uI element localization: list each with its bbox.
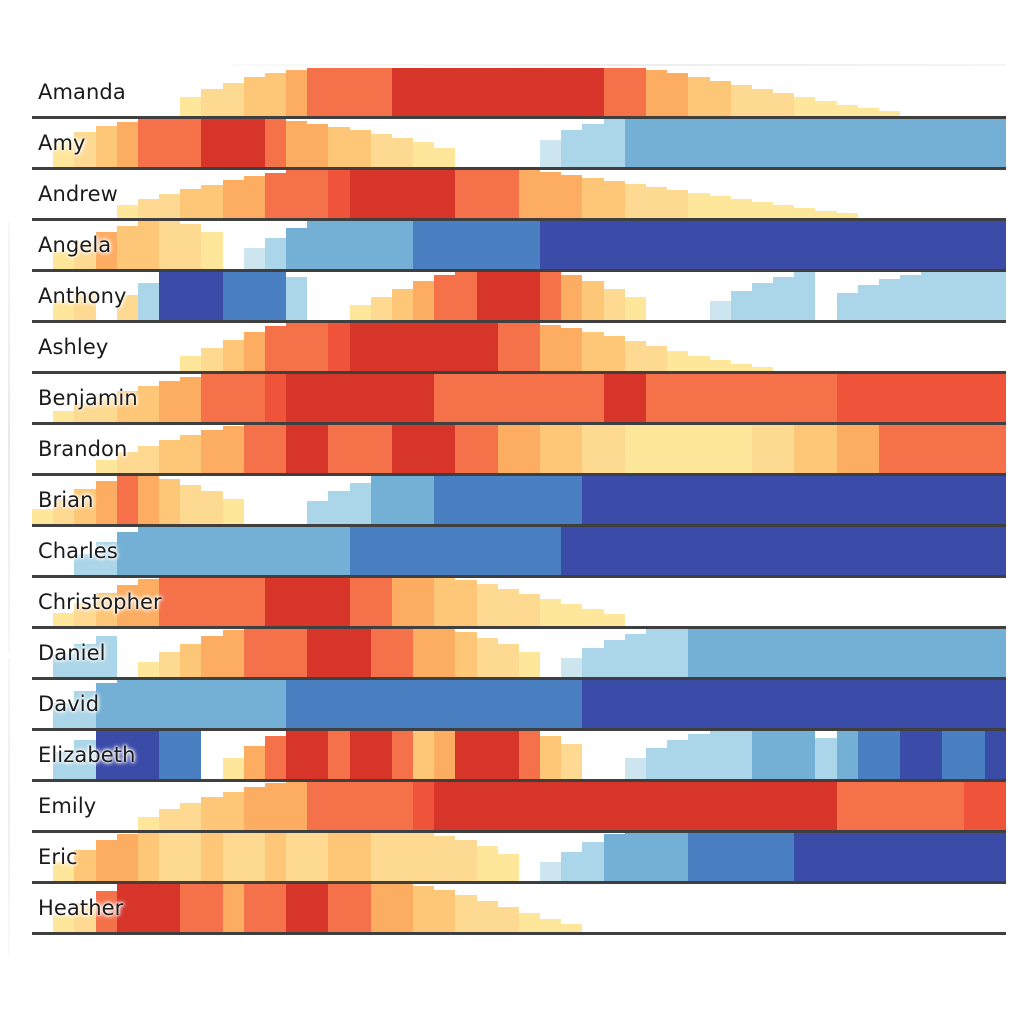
heatmap-cell[interactable] <box>561 272 582 323</box>
heatmap-cell[interactable] <box>286 170 307 221</box>
heatmap-cell[interactable] <box>604 680 625 731</box>
heatmap-cell[interactable] <box>117 221 138 272</box>
heatmap-cell[interactable] <box>201 884 222 935</box>
heatmap-cell[interactable] <box>773 374 794 425</box>
heatmap-row[interactable]: Ashley <box>32 323 1006 374</box>
heatmap-row[interactable]: Christopher <box>32 578 1006 629</box>
heatmap-cell[interactable] <box>180 374 201 425</box>
heatmap-cell[interactable] <box>985 731 1006 782</box>
heatmap-cell[interactable] <box>773 833 794 884</box>
heatmap-cell[interactable] <box>223 527 244 578</box>
heatmap-cell[interactable] <box>223 68 244 119</box>
heatmap-cell[interactable] <box>477 119 498 170</box>
heatmap-cell[interactable] <box>688 476 709 527</box>
heatmap-cell[interactable] <box>752 170 773 221</box>
heatmap-cell[interactable] <box>371 527 392 578</box>
heatmap-cell[interactable] <box>815 578 836 629</box>
heatmap-cell[interactable] <box>731 629 752 680</box>
heatmap-cell[interactable] <box>752 680 773 731</box>
heatmap-cell[interactable] <box>667 629 688 680</box>
heatmap-cell[interactable] <box>985 578 1006 629</box>
heatmap-cell[interactable] <box>858 323 879 374</box>
heatmap-cell[interactable] <box>307 374 328 425</box>
heatmap-cell[interactable] <box>815 527 836 578</box>
heatmap-cell[interactable] <box>265 680 286 731</box>
heatmap-cell[interactable] <box>498 170 519 221</box>
heatmap-cell[interactable] <box>244 476 265 527</box>
heatmap-cell[interactable] <box>964 374 985 425</box>
heatmap-cell[interactable] <box>752 221 773 272</box>
heatmap-cell[interactable] <box>413 425 434 476</box>
heatmap-cell[interactable] <box>561 119 582 170</box>
heatmap-cell[interactable] <box>540 731 561 782</box>
heatmap-cell[interactable] <box>498 272 519 323</box>
heatmap-cell[interactable] <box>561 527 582 578</box>
heatmap-cell[interactable] <box>117 323 138 374</box>
heatmap-cell[interactable] <box>519 374 540 425</box>
heatmap-cell[interactable] <box>731 170 752 221</box>
heatmap-cell[interactable] <box>223 578 244 629</box>
heatmap-cell[interactable] <box>964 119 985 170</box>
heatmap-cell[interactable] <box>752 323 773 374</box>
heatmap-cell[interactable] <box>392 680 413 731</box>
heatmap-cell[interactable] <box>900 578 921 629</box>
heatmap-cell[interactable] <box>921 578 942 629</box>
heatmap-cell[interactable] <box>286 374 307 425</box>
heatmap-cell[interactable] <box>921 476 942 527</box>
heatmap-cell[interactable] <box>625 374 646 425</box>
heatmap-cell[interactable] <box>794 884 815 935</box>
heatmap-cell[interactable] <box>540 272 561 323</box>
heatmap-cell[interactable] <box>455 170 476 221</box>
heatmap-cell[interactable] <box>858 527 879 578</box>
heatmap-cell[interactable] <box>138 629 159 680</box>
heatmap-cell[interactable] <box>858 68 879 119</box>
heatmap-cell[interactable] <box>879 119 900 170</box>
heatmap-cell[interactable] <box>646 221 667 272</box>
heatmap-cell[interactable] <box>561 323 582 374</box>
heatmap-cell[interactable] <box>942 884 963 935</box>
heatmap-cell[interactable] <box>455 680 476 731</box>
heatmap-cell[interactable] <box>646 527 667 578</box>
heatmap-cell[interactable] <box>434 323 455 374</box>
heatmap-cell[interactable] <box>646 578 667 629</box>
heatmap-cell[interactable] <box>138 884 159 935</box>
heatmap-cell[interactable] <box>688 374 709 425</box>
heatmap-cell[interactable] <box>604 68 625 119</box>
heatmap-cell[interactable] <box>519 272 540 323</box>
heatmap-cell[interactable] <box>286 119 307 170</box>
heatmap-cell[interactable] <box>646 884 667 935</box>
heatmap-cell[interactable] <box>519 680 540 731</box>
heatmap-cell[interactable] <box>350 119 371 170</box>
heatmap-cell[interactable] <box>625 731 646 782</box>
heatmap-cell[interactable] <box>455 578 476 629</box>
heatmap-cell[interactable] <box>604 119 625 170</box>
heatmap-cell[interactable] <box>159 629 180 680</box>
heatmap-cell[interactable] <box>815 272 836 323</box>
heatmap-cell[interactable] <box>815 884 836 935</box>
heatmap-cell[interactable] <box>773 629 794 680</box>
heatmap-cell[interactable] <box>794 527 815 578</box>
heatmap-cell[interactable] <box>455 68 476 119</box>
heatmap-cell[interactable] <box>371 272 392 323</box>
heatmap-cell[interactable] <box>477 476 498 527</box>
heatmap-cell[interactable] <box>498 68 519 119</box>
heatmap-cell[interactable] <box>350 170 371 221</box>
heatmap-cell[interactable] <box>879 782 900 833</box>
heatmap-cell[interactable] <box>604 272 625 323</box>
heatmap-cell[interactable] <box>519 68 540 119</box>
heatmap-cell[interactable] <box>879 833 900 884</box>
heatmap-cell[interactable] <box>964 170 985 221</box>
heatmap-cell[interactable] <box>837 527 858 578</box>
heatmap-cell[interactable] <box>307 782 328 833</box>
heatmap-cell[interactable] <box>900 629 921 680</box>
heatmap-cell[interactable] <box>710 527 731 578</box>
heatmap-cell[interactable] <box>837 323 858 374</box>
heatmap-cell[interactable] <box>942 680 963 731</box>
heatmap-cell[interactable] <box>159 578 180 629</box>
heatmap-cell[interactable] <box>498 221 519 272</box>
heatmap-cell[interactable] <box>837 680 858 731</box>
heatmap-cell[interactable] <box>667 527 688 578</box>
heatmap-cell[interactable] <box>710 680 731 731</box>
heatmap-cell[interactable] <box>561 476 582 527</box>
heatmap-cell[interactable] <box>371 731 392 782</box>
heatmap-cell[interactable] <box>455 119 476 170</box>
heatmap-cell[interactable] <box>328 119 349 170</box>
heatmap-cell[interactable] <box>498 782 519 833</box>
heatmap-cell[interactable] <box>794 119 815 170</box>
heatmap-cell[interactable] <box>180 527 201 578</box>
heatmap-cell[interactable] <box>307 578 328 629</box>
heatmap-cell[interactable] <box>413 833 434 884</box>
heatmap-cell[interactable] <box>879 221 900 272</box>
heatmap-cell[interactable] <box>731 578 752 629</box>
heatmap-cell[interactable] <box>413 374 434 425</box>
heatmap-cell[interactable] <box>286 731 307 782</box>
heatmap-row[interactable]: Andrew <box>32 170 1006 221</box>
heatmap-cell[interactable] <box>223 425 244 476</box>
heatmap-cell[interactable] <box>942 629 963 680</box>
heatmap-cell[interactable] <box>392 884 413 935</box>
heatmap-cell[interactable] <box>900 527 921 578</box>
heatmap-cell[interactable] <box>117 527 138 578</box>
heatmap-cell[interactable] <box>371 323 392 374</box>
heatmap-cell[interactable] <box>837 731 858 782</box>
heatmap-cell[interactable] <box>837 629 858 680</box>
heatmap-cell[interactable] <box>837 68 858 119</box>
heatmap-cell[interactable] <box>815 170 836 221</box>
heatmap-cell[interactable] <box>223 782 244 833</box>
heatmap-cell[interactable] <box>688 782 709 833</box>
heatmap-cell[interactable] <box>921 782 942 833</box>
heatmap-cell[interactable] <box>413 476 434 527</box>
heatmap-cell[interactable] <box>307 425 328 476</box>
heatmap-cell[interactable] <box>286 527 307 578</box>
heatmap-cell[interactable] <box>477 323 498 374</box>
heatmap-cell[interactable] <box>582 374 603 425</box>
heatmap-cell[interactable] <box>413 68 434 119</box>
heatmap-cell[interactable] <box>710 272 731 323</box>
heatmap-cell[interactable] <box>159 221 180 272</box>
heatmap-cell[interactable] <box>265 782 286 833</box>
heatmap-cell[interactable] <box>265 323 286 374</box>
heatmap-cell[interactable] <box>731 68 752 119</box>
heatmap-cell[interactable] <box>328 833 349 884</box>
heatmap-cell[interactable] <box>392 374 413 425</box>
heatmap-cell[interactable] <box>561 68 582 119</box>
heatmap-cell[interactable] <box>921 170 942 221</box>
heatmap-cell[interactable] <box>582 578 603 629</box>
heatmap-cell[interactable] <box>985 221 1006 272</box>
heatmap-cell[interactable] <box>328 629 349 680</box>
heatmap-cell[interactable] <box>328 170 349 221</box>
heatmap-cell[interactable] <box>498 476 519 527</box>
heatmap-cell[interactable] <box>286 476 307 527</box>
heatmap-cell[interactable] <box>223 170 244 221</box>
heatmap-cell[interactable] <box>582 272 603 323</box>
heatmap-cell[interactable] <box>265 527 286 578</box>
heatmap-cell[interactable] <box>138 833 159 884</box>
heatmap-cell[interactable] <box>201 629 222 680</box>
heatmap-row[interactable]: Anthony <box>32 272 1006 323</box>
heatmap-cell[interactable] <box>540 425 561 476</box>
heatmap-cell[interactable] <box>942 374 963 425</box>
heatmap-cell[interactable] <box>392 425 413 476</box>
heatmap-cell[interactable] <box>561 221 582 272</box>
heatmap-row[interactable]: Angela <box>32 221 1006 272</box>
heatmap-cell[interactable] <box>879 884 900 935</box>
heatmap-cell[interactable] <box>519 119 540 170</box>
heatmap-cell[interactable] <box>773 221 794 272</box>
heatmap-cell[interactable] <box>223 272 244 323</box>
heatmap-cell[interactable] <box>434 272 455 323</box>
heatmap-cell[interactable] <box>837 476 858 527</box>
heatmap-cell[interactable] <box>265 833 286 884</box>
heatmap-cell[interactable] <box>540 170 561 221</box>
heatmap-cell[interactable] <box>752 68 773 119</box>
heatmap-cell[interactable] <box>604 374 625 425</box>
heatmap-cell[interactable] <box>667 476 688 527</box>
heatmap-cell[interactable] <box>985 833 1006 884</box>
heatmap-cell[interactable] <box>477 272 498 323</box>
heatmap-cell[interactable] <box>604 578 625 629</box>
heatmap-cell[interactable] <box>455 272 476 323</box>
heatmap-cell[interactable] <box>519 629 540 680</box>
heatmap-cell[interactable] <box>731 782 752 833</box>
heatmap-cell[interactable] <box>455 425 476 476</box>
heatmap-cell[interactable] <box>328 578 349 629</box>
heatmap-cell[interactable] <box>625 680 646 731</box>
heatmap-cell[interactable] <box>540 884 561 935</box>
heatmap-cell[interactable] <box>307 680 328 731</box>
heatmap-cell[interactable] <box>371 629 392 680</box>
heatmap-cell[interactable] <box>223 680 244 731</box>
heatmap-cell[interactable] <box>942 476 963 527</box>
heatmap-row[interactable]: Heather <box>32 884 1006 935</box>
heatmap-cell[interactable] <box>244 527 265 578</box>
heatmap-cell[interactable] <box>900 476 921 527</box>
heatmap-cell[interactable] <box>858 833 879 884</box>
heatmap-cell[interactable] <box>837 833 858 884</box>
heatmap-cell[interactable] <box>582 323 603 374</box>
heatmap-cell[interactable] <box>244 629 265 680</box>
heatmap-cell[interactable] <box>942 68 963 119</box>
heatmap-cell[interactable] <box>604 527 625 578</box>
heatmap-cell[interactable] <box>731 731 752 782</box>
heatmap-cell[interactable] <box>201 221 222 272</box>
heatmap-cell[interactable] <box>561 374 582 425</box>
heatmap-cell[interactable] <box>879 272 900 323</box>
heatmap-cell[interactable] <box>625 425 646 476</box>
heatmap-cell[interactable] <box>159 884 180 935</box>
heatmap-cell[interactable] <box>773 272 794 323</box>
heatmap-cell[interactable] <box>350 221 371 272</box>
heatmap-cell[interactable] <box>752 527 773 578</box>
heatmap-cell[interactable] <box>413 884 434 935</box>
heatmap-cell[interactable] <box>392 476 413 527</box>
heatmap-cell[interactable] <box>667 731 688 782</box>
heatmap-cell[interactable] <box>731 833 752 884</box>
heatmap-cell[interactable] <box>625 782 646 833</box>
heatmap-cell[interactable] <box>434 221 455 272</box>
heatmap-cell[interactable] <box>985 782 1006 833</box>
heatmap-cell[interactable] <box>752 833 773 884</box>
heatmap-cell[interactable] <box>731 374 752 425</box>
heatmap-cell[interactable] <box>413 170 434 221</box>
heatmap-cell[interactable] <box>265 476 286 527</box>
heatmap-cell[interactable] <box>392 629 413 680</box>
heatmap-cell[interactable] <box>307 323 328 374</box>
heatmap-cell[interactable] <box>688 272 709 323</box>
heatmap-cell[interactable] <box>540 527 561 578</box>
heatmap-cell[interactable] <box>328 323 349 374</box>
heatmap-cell[interactable] <box>434 170 455 221</box>
heatmap-cell[interactable] <box>646 731 667 782</box>
heatmap-cell[interactable] <box>540 782 561 833</box>
heatmap-cell[interactable] <box>455 374 476 425</box>
heatmap-cell[interactable] <box>350 374 371 425</box>
heatmap-cell[interactable] <box>794 68 815 119</box>
heatmap-cell[interactable] <box>413 527 434 578</box>
heatmap-cell[interactable] <box>286 68 307 119</box>
heatmap-cell[interactable] <box>879 629 900 680</box>
heatmap-cell[interactable] <box>159 731 180 782</box>
heatmap-cell[interactable] <box>455 833 476 884</box>
heatmap-cell[interactable] <box>879 323 900 374</box>
heatmap-cell[interactable] <box>942 425 963 476</box>
heatmap-cell[interactable] <box>477 680 498 731</box>
heatmap-cell[interactable] <box>688 578 709 629</box>
heatmap-cell[interactable] <box>837 425 858 476</box>
heatmap-cell[interactable] <box>180 68 201 119</box>
heatmap-cell[interactable] <box>307 833 328 884</box>
heatmap-cell[interactable] <box>794 833 815 884</box>
heatmap-cell[interactable] <box>985 527 1006 578</box>
heatmap-cell[interactable] <box>434 527 455 578</box>
heatmap-cell[interactable] <box>964 425 985 476</box>
heatmap-cell[interactable] <box>964 476 985 527</box>
heatmap-cell[interactable] <box>265 884 286 935</box>
heatmap-cell[interactable] <box>604 323 625 374</box>
heatmap-cell[interactable] <box>223 476 244 527</box>
heatmap-cell[interactable] <box>413 782 434 833</box>
heatmap-cell[interactable] <box>265 272 286 323</box>
heatmap-cell[interactable] <box>519 527 540 578</box>
heatmap-cell[interactable] <box>794 272 815 323</box>
heatmap-cell[interactable] <box>773 782 794 833</box>
heatmap-cell[interactable] <box>159 527 180 578</box>
heatmap-cell[interactable] <box>858 425 879 476</box>
heatmap-cell[interactable] <box>392 272 413 323</box>
heatmap-cell[interactable] <box>180 221 201 272</box>
heatmap-cell[interactable] <box>921 425 942 476</box>
heatmap-cell[interactable] <box>688 119 709 170</box>
heatmap-cell[interactable] <box>350 782 371 833</box>
heatmap-cell[interactable] <box>794 170 815 221</box>
heatmap-cell[interactable] <box>498 884 519 935</box>
heatmap-cell[interactable] <box>350 680 371 731</box>
heatmap-cell[interactable] <box>625 323 646 374</box>
heatmap-cell[interactable] <box>265 374 286 425</box>
heatmap-cell[interactable] <box>392 68 413 119</box>
heatmap-cell[interactable] <box>286 425 307 476</box>
heatmap-cell[interactable] <box>455 221 476 272</box>
heatmap-cell[interactable] <box>350 833 371 884</box>
heatmap-cell[interactable] <box>815 782 836 833</box>
heatmap-cell[interactable] <box>392 119 413 170</box>
heatmap-cell[interactable] <box>604 629 625 680</box>
heatmap-cell[interactable] <box>667 782 688 833</box>
heatmap-cell[interactable] <box>710 119 731 170</box>
heatmap-cell[interactable] <box>731 425 752 476</box>
heatmap-cell[interactable] <box>455 476 476 527</box>
heatmap-cell[interactable] <box>625 527 646 578</box>
heatmap-cell[interactable] <box>752 731 773 782</box>
heatmap-cell[interactable] <box>561 425 582 476</box>
heatmap-cell[interactable] <box>413 731 434 782</box>
heatmap-cell[interactable] <box>223 731 244 782</box>
heatmap-cell[interactable] <box>498 731 519 782</box>
heatmap-cell[interactable] <box>350 731 371 782</box>
heatmap-cell[interactable] <box>604 476 625 527</box>
heatmap-cell[interactable] <box>371 425 392 476</box>
heatmap-cell[interactable] <box>582 629 603 680</box>
heatmap-cell[interactable] <box>815 731 836 782</box>
heatmap-cell[interactable] <box>964 833 985 884</box>
heatmap-cell[interactable] <box>117 119 138 170</box>
heatmap-cell[interactable] <box>964 884 985 935</box>
heatmap-cell[interactable] <box>540 68 561 119</box>
heatmap-cell[interactable] <box>265 119 286 170</box>
heatmap-cell[interactable] <box>625 272 646 323</box>
heatmap-cell[interactable] <box>96 833 117 884</box>
heatmap-row[interactable]: Elizabeth <box>32 731 1006 782</box>
heatmap-cell[interactable] <box>392 578 413 629</box>
heatmap-cell[interactable] <box>117 476 138 527</box>
heatmap-cell[interactable] <box>964 323 985 374</box>
heatmap-cell[interactable] <box>201 119 222 170</box>
heatmap-cell[interactable] <box>180 170 201 221</box>
heatmap-cell[interactable] <box>667 221 688 272</box>
heatmap-cell[interactable] <box>561 884 582 935</box>
heatmap-cell[interactable] <box>985 884 1006 935</box>
heatmap-cell[interactable] <box>752 884 773 935</box>
heatmap-cell[interactable] <box>244 170 265 221</box>
heatmap-cell[interactable] <box>710 629 731 680</box>
